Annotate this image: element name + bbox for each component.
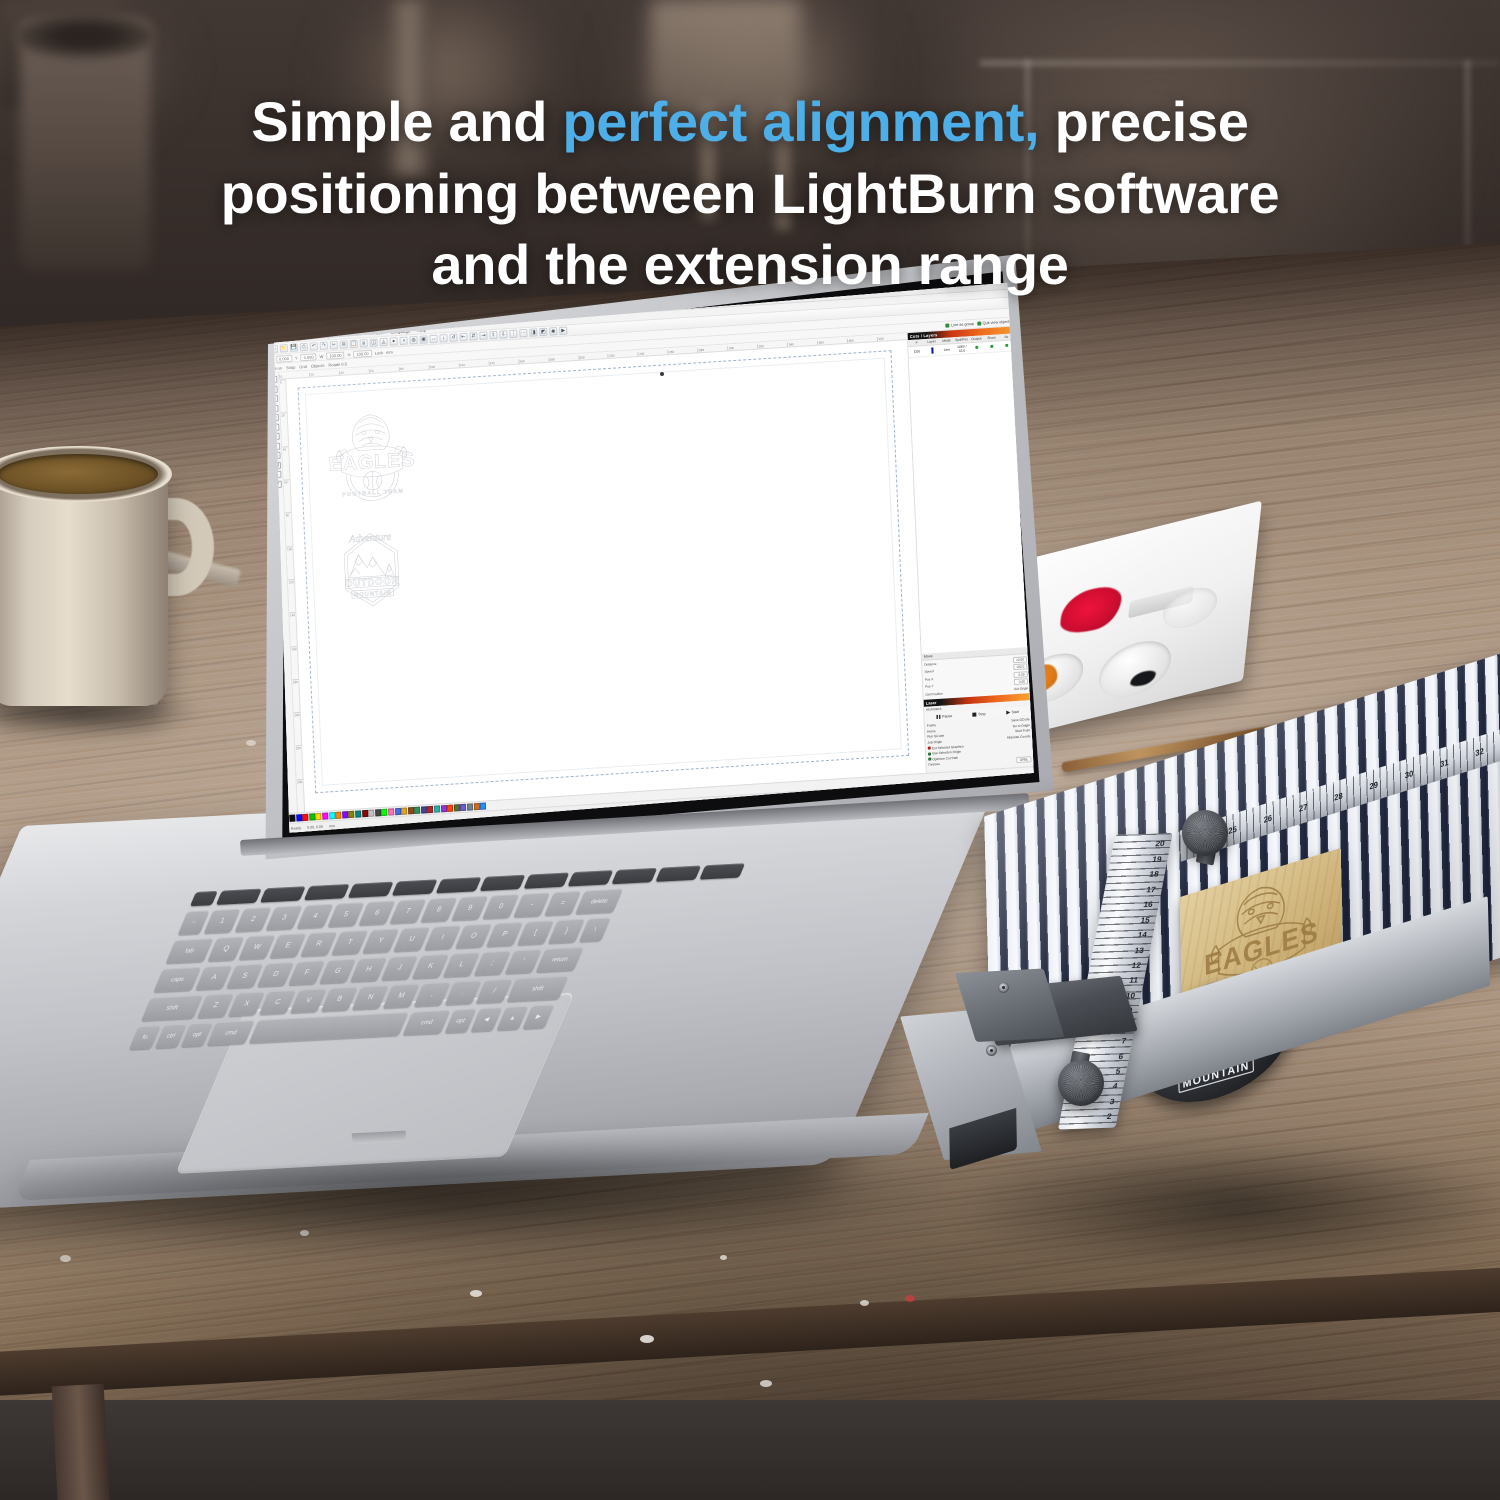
col-show: Show — [984, 335, 999, 340]
mirror-h-icon[interactable]: ↔ — [429, 335, 437, 343]
headline-accent: perfect alignment, — [562, 90, 1039, 153]
palette-swatch — [441, 805, 447, 812]
palette-swatch — [401, 807, 407, 814]
lock-toggle[interactable]: Lock — [375, 350, 384, 356]
palette-swatch — [309, 813, 315, 820]
boolean-intersect-icon[interactable]: ◍ — [409, 336, 417, 344]
duplicate-icon[interactable]: ⧈ — [360, 339, 368, 347]
align-right-icon[interactable]: ⇥ — [479, 331, 487, 339]
row-mode[interactable]: Line — [939, 347, 954, 352]
align-center-icon[interactable]: ⇵ — [469, 332, 477, 340]
bring-front-icon[interactable]: ◨ — [529, 328, 537, 336]
ungroup-icon[interactable]: ◬ — [379, 338, 387, 346]
modifier-snap[interactable]: Snap — [286, 364, 296, 370]
checkbox-use-selection-origin[interactable] — [928, 752, 931, 755]
start-button[interactable]: Start — [1006, 710, 1019, 715]
checkbox-cut-selected[interactable] — [928, 747, 931, 750]
work-area[interactable]: EAGLES FOOTBALL TEAM — [298, 350, 910, 793]
palette-swatch — [427, 806, 433, 813]
device-value[interactable]: GRBL — [1017, 757, 1032, 764]
modifier-grid[interactable]: Grid — [299, 363, 307, 368]
save-gcode-button[interactable]: Save GCode — [1011, 717, 1029, 722]
rotate-90-icon[interactable]: ↺ — [449, 333, 457, 341]
palette-swatch — [388, 808, 394, 815]
palette-swatch — [316, 813, 322, 820]
move-posy-label: Pos Y — [925, 684, 934, 691]
palette-swatch — [454, 804, 460, 811]
width-input[interactable]: 100.00 — [326, 351, 345, 359]
checkbox-line-as-group[interactable] — [946, 323, 950, 327]
preview-icon[interactable]: ▶ — [559, 326, 567, 334]
show-toggle[interactable] — [990, 345, 993, 348]
save-icon[interactable]: 💾 — [290, 343, 298, 351]
laser-panel-title: Laser — [926, 700, 937, 706]
palette-swatch — [395, 808, 401, 815]
redo-icon[interactable]: ↷ — [320, 342, 328, 350]
send-back-icon[interactable]: ◩ — [539, 328, 547, 336]
weld-icon[interactable]: ▣ — [419, 335, 427, 343]
headline-line-3: and the extension range — [0, 229, 1500, 301]
move-panel-title: Move — [924, 654, 933, 659]
app-body: ➲ ◇ ▭ ○ ⬠ ╱ ∾ T ◎ ▦ ↔ ⚲ — [268, 326, 1034, 813]
move-posx-input[interactable]: 0.00 — [1014, 671, 1028, 678]
y-label: Y — [295, 355, 298, 360]
keyboard[interactable]: ~123 4567 890- =delete tabQWE RTYU IOP[ … — [119, 859, 835, 1073]
palette-swatch — [342, 811, 348, 818]
option-quit-view-objects[interactable]: Quit view objects — [977, 320, 1011, 326]
boolean-subtract-icon[interactable]: ◑ — [399, 337, 407, 345]
modifier-rotate[interactable]: Rotate 0.0 — [328, 361, 347, 367]
air-toggle[interactable] — [1005, 344, 1008, 347]
y-input[interactable]: 0.000 — [300, 353, 316, 361]
x-input[interactable]: 0.000 — [276, 354, 292, 362]
palette-swatch — [348, 811, 354, 818]
go-to-origin-button[interactable]: Go to Origin — [1013, 723, 1030, 728]
status-ready: Ready — [291, 826, 302, 831]
pause-button[interactable]: Pause — [937, 714, 953, 719]
row-output — [969, 345, 984, 350]
svg-text:MOUNTAIN: MOUNTAIN — [353, 590, 392, 598]
set-origin-button[interactable]: Set Origin — [1014, 686, 1028, 691]
job-origin-label: Job Origin — [927, 740, 942, 745]
screw-lower — [986, 1045, 997, 1056]
webcam-icon — [660, 372, 664, 376]
palette-swatch — [467, 803, 473, 810]
checkbox-optimize-cut-path[interactable] — [928, 758, 931, 761]
cut-icon[interactable]: ✂ — [330, 341, 338, 349]
col-index: # — [909, 340, 924, 345]
palette-swatch — [322, 812, 328, 819]
laptop-screen: Untitled - LightBurn 1.3.01 File Edit To… — [266, 280, 1035, 833]
palette-swatch — [480, 803, 486, 810]
row-layer-color — [924, 348, 939, 353]
output-toggle[interactable] — [975, 346, 978, 349]
laser-engraver-extension: 33 32 31 30 29 28 27 26 25 24 — [940, 810, 1500, 1280]
status-units: mm — [329, 824, 335, 828]
palette-swatch — [289, 815, 295, 822]
headline-part-a: Simple and — [251, 90, 562, 153]
modifier-objects[interactable]: Objects — [311, 362, 325, 368]
bottom-clamp-knob[interactable] — [1058, 1060, 1104, 1106]
headline-part-b: precise — [1039, 90, 1248, 153]
adventure-logo-object[interactable]: Adventure OUTDOOR — [333, 522, 411, 615]
move-speed-label: Speed — [924, 669, 933, 676]
align-bottom-icon[interactable]: ⇩ — [499, 330, 507, 338]
palette-swatch — [421, 806, 427, 813]
open-icon[interactable]: 📁 — [280, 344, 288, 352]
screw-upper — [998, 982, 1009, 993]
palette-swatch — [408, 807, 414, 814]
top-clamp-knob[interactable] — [1182, 810, 1228, 856]
home-button[interactable]: Home — [927, 729, 936, 734]
run-gcode-button[interactable]: Run GCode — [927, 734, 944, 739]
h-label: H — [347, 352, 350, 357]
coffee-surface — [0, 454, 158, 494]
headline: Simple and perfect alignment, precise po… — [0, 86, 1500, 301]
stop-icon — [973, 712, 977, 716]
move-posy-input[interactable]: 0.00 — [1014, 678, 1028, 685]
col-mode: Mode — [939, 338, 954, 343]
svg-text:EAGLES: EAGLES — [328, 449, 415, 476]
frame-button[interactable]: Frame — [927, 723, 936, 728]
print-icon[interactable]: ⎙ — [300, 343, 308, 351]
row-show — [984, 344, 999, 349]
paste-icon[interactable]: 📋 — [350, 340, 358, 348]
move-panel-body[interactable]: Distance 10.00 Speed 100.0 Pos X 0.00 — [922, 654, 1031, 700]
lightburn-app: Untitled - LightBurn 1.3.01 File Edit To… — [266, 280, 1035, 833]
palette-swatch — [355, 810, 361, 817]
move-speed-input[interactable]: 100.0 — [1013, 664, 1027, 671]
mug-body — [0, 466, 168, 706]
checkbox-quit-view-objects[interactable] — [977, 321, 981, 325]
coffee-mug — [0, 440, 218, 740]
floor — [0, 1400, 1500, 1500]
palette-swatch — [329, 812, 335, 819]
eagles-logo-object[interactable]: EAGLES FOOTBALL TEAM — [324, 407, 420, 509]
pause-icon — [937, 715, 941, 719]
desk-leg — [52, 1384, 111, 1500]
palette-swatch — [414, 807, 420, 814]
move-posx-label: Pos X — [925, 677, 934, 684]
palette-swatch — [302, 814, 308, 821]
move-distance-label: Distance — [924, 662, 937, 669]
palette-swatch — [296, 814, 302, 821]
height-input[interactable]: 100.00 — [353, 349, 372, 357]
col-spdpwr: Spd/Pwr — [954, 337, 969, 342]
layer-color-swatch[interactable] — [931, 348, 933, 354]
headline-line-2: positioning between LightBurn software — [0, 158, 1500, 230]
devices-label[interactable]: Devices — [928, 762, 940, 769]
palette-swatch — [434, 805, 440, 812]
laser-controls[interactable]: Frame Save GCode Home Go to Origin Run G… — [925, 715, 1034, 772]
palette-swatch — [460, 804, 466, 811]
align-left-icon[interactable]: ⇤ — [459, 333, 467, 341]
distribute-h-icon[interactable]: ⋮ — [509, 330, 517, 338]
w-label: W — [319, 353, 323, 358]
status-coords: 0.00, 0.00 — [307, 824, 323, 829]
copy-icon[interactable]: ⧉ — [340, 340, 348, 348]
palette-swatch — [381, 809, 387, 816]
distribute-v-icon[interactable]: ⋯ — [519, 329, 527, 337]
palette-swatch — [473, 803, 479, 810]
stop-button[interactable]: Stop — [973, 712, 986, 717]
row-index: C00 — [909, 349, 924, 354]
scene-root: Simple and perfect alignment, precise po… — [0, 0, 1500, 1500]
undo-icon[interactable]: ↶ — [310, 342, 318, 350]
get-position-button[interactable]: Get Position — [925, 691, 943, 696]
group-icon[interactable]: ◫ — [370, 338, 378, 346]
headline-line-1: Simple and perfect alignment, precise — [0, 86, 1500, 158]
col-output: Output — [969, 336, 984, 341]
camera-icon[interactable]: ◉ — [549, 327, 557, 335]
mirror-v-icon[interactable]: ↕ — [439, 334, 447, 342]
palette-swatch — [375, 809, 381, 816]
align-top-icon[interactable]: ⇧ — [489, 331, 497, 339]
palette-swatch — [447, 805, 453, 812]
play-icon — [1006, 710, 1010, 714]
palette-swatch — [335, 812, 341, 819]
units-label: mm — [386, 349, 393, 354]
canvas-area[interactable]: 0 20 40 60 80 100 120 140 160 180 200 22… — [279, 333, 926, 812]
start-from-label: Start From — [1015, 729, 1030, 734]
option-line-as-group[interactable]: Line as group — [946, 322, 975, 328]
palette-swatch — [368, 810, 374, 817]
status-option-absolute[interactable]: Absolute Coords — [1007, 734, 1031, 739]
move-distance-input[interactable]: 10.00 — [1013, 656, 1027, 663]
palette-swatch — [362, 810, 368, 817]
col-layer: Layer — [924, 339, 939, 344]
boolean-union-icon[interactable]: ● — [389, 337, 397, 345]
row-spdpwr[interactable]: 1063 / 42.0 — [954, 344, 969, 353]
